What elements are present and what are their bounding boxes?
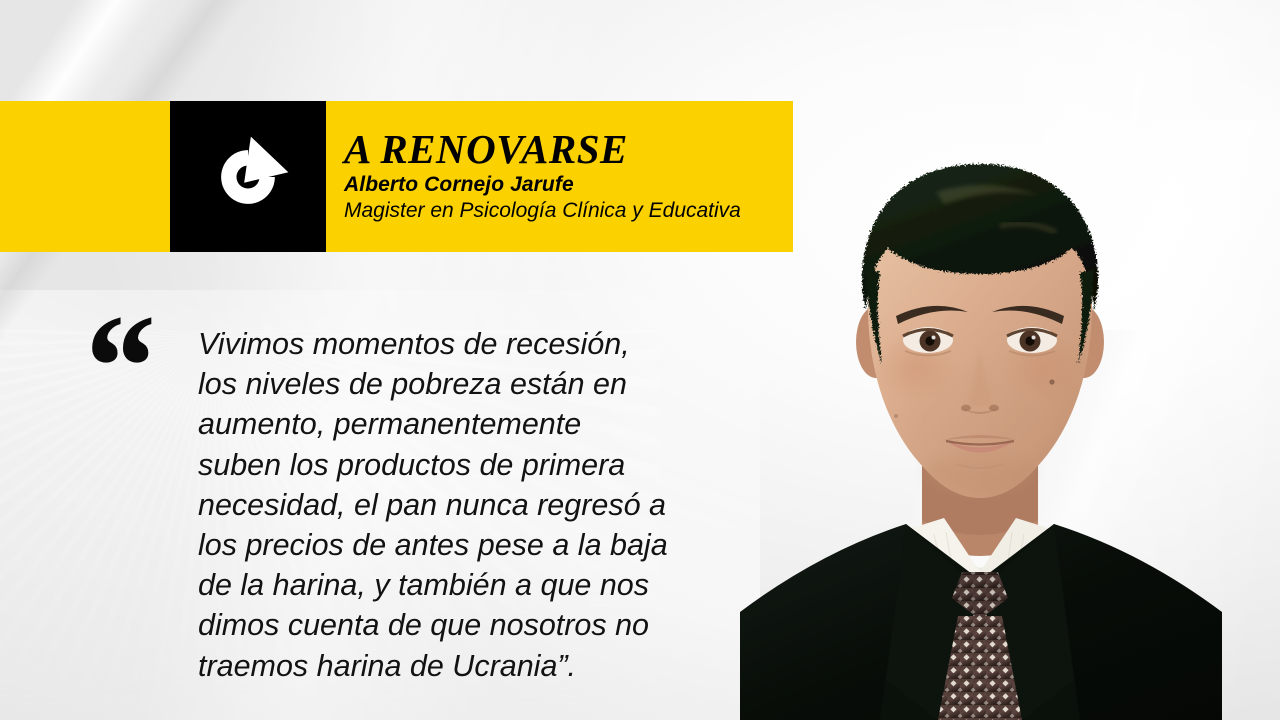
logo-box <box>170 101 326 252</box>
banner-title: A RENOVARSE <box>344 129 793 170</box>
banner-person-name: Alberto Cornejo Jarufe <box>344 173 793 197</box>
banner-person-role: Magister en Psicología Clínica y Educati… <box>344 198 793 224</box>
quote-text: Vivimos momentos de recesión, los nivele… <box>198 324 718 686</box>
graphic-card: A RENOVARSE Alberto Cornejo Jarufe Magis… <box>0 0 1280 720</box>
circular-arrow-refresh-icon <box>200 129 296 225</box>
banner-left-spacer <box>0 101 170 252</box>
banner-text-group: A RENOVARSE Alberto Cornejo Jarufe Magis… <box>326 101 793 252</box>
quotation-mark-icon: “ <box>78 292 147 442</box>
title-banner: A RENOVARSE Alberto Cornejo Jarufe Magis… <box>0 101 793 252</box>
